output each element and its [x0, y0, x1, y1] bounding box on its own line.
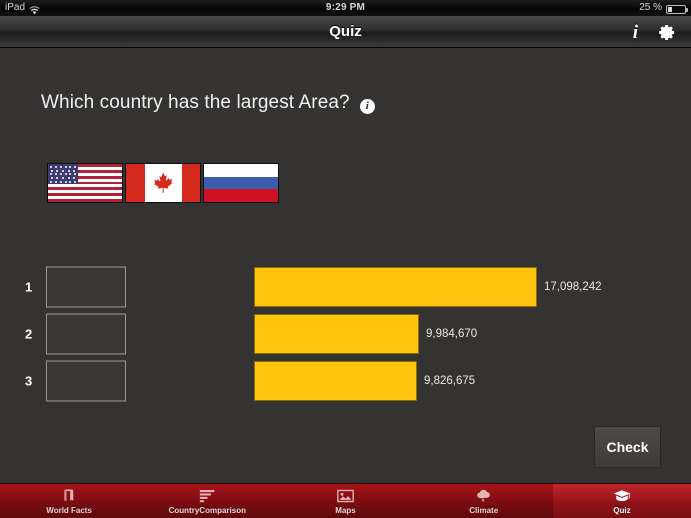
status-bar-right: 25 % — [639, 0, 686, 16]
book-icon — [62, 487, 77, 504]
tab-climate[interactable]: Climate — [415, 484, 553, 518]
rank-label: 3 — [25, 373, 32, 388]
question-text: Which country has the largest Area? — [41, 92, 350, 114]
rank-label: 2 — [25, 326, 32, 341]
flag-choices — [47, 163, 279, 203]
bar-row-1: 17,098,242 — [254, 267, 602, 307]
tab-label: World Facts — [46, 506, 92, 515]
tab-country-comparison[interactable]: CountryComparison — [138, 484, 276, 518]
picture-icon — [337, 487, 354, 504]
bar-value-1: 17,098,242 — [544, 281, 602, 293]
tab-label: Quiz — [613, 506, 630, 515]
tab-label: Climate — [469, 506, 498, 515]
rank-label: 1 — [25, 279, 32, 294]
cloud-rain-icon — [475, 487, 492, 504]
flag-usa-icon[interactable] — [47, 163, 123, 203]
answer-row: 2 9,984,670 — [0, 310, 691, 357]
nav-bar: Quiz i — [0, 16, 691, 48]
answer-row: 1 17,098,242 — [0, 263, 691, 310]
tab-world-facts[interactable]: World Facts — [0, 484, 138, 518]
info-icon[interactable]: i — [633, 23, 638, 42]
question-row: Which country has the largest Area? i — [41, 92, 375, 114]
battery-percent-label: 25 % — [639, 0, 662, 16]
tab-label: Maps — [335, 506, 355, 515]
tab-bar: World Facts CountryComparison — [0, 483, 691, 518]
bar-row-3: 9,826,675 — [254, 361, 475, 401]
bar-3 — [254, 361, 417, 401]
graduation-cap-icon — [613, 487, 631, 504]
flag-canada-icon[interactable] — [125, 163, 201, 203]
tab-quiz[interactable]: Quiz — [553, 484, 691, 518]
status-bar-time: 9:29 PM — [0, 0, 691, 16]
quiz-app-screen: iPad 9:29 PM 25 % Quiz i — [0, 0, 691, 518]
ios-status-bar: iPad 9:29 PM 25 % — [0, 0, 691, 16]
bar-value-2: 9,984,670 — [426, 328, 477, 340]
answer-rows: 1 17,098,242 2 9,984,670 3 — [0, 263, 691, 404]
answer-drop-zone-3[interactable] — [46, 360, 126, 401]
answer-row: 3 9,826,675 — [0, 357, 691, 404]
bar-value-3: 9,826,675 — [424, 375, 475, 387]
battery-icon — [666, 5, 686, 14]
answer-drop-zone-1[interactable] — [46, 266, 126, 307]
quiz-content: Which country has the largest Area? i — [0, 48, 691, 483]
tab-label: CountryComparison — [169, 506, 246, 515]
tab-maps[interactable]: Maps — [276, 484, 414, 518]
question-info-badge-icon[interactable]: i — [360, 99, 375, 114]
nav-bar-actions: i — [633, 16, 677, 48]
bar-1 — [254, 267, 537, 307]
bar-2 — [254, 314, 419, 354]
answer-drop-zone-2[interactable] — [46, 313, 126, 354]
page-title: Quiz — [0, 16, 691, 48]
flag-russia-icon[interactable] — [203, 163, 279, 203]
check-button[interactable]: Check — [594, 426, 661, 468]
bar-chart-icon — [199, 487, 216, 504]
bar-row-2: 9,984,670 — [254, 314, 477, 354]
gear-icon[interactable] — [658, 23, 677, 42]
